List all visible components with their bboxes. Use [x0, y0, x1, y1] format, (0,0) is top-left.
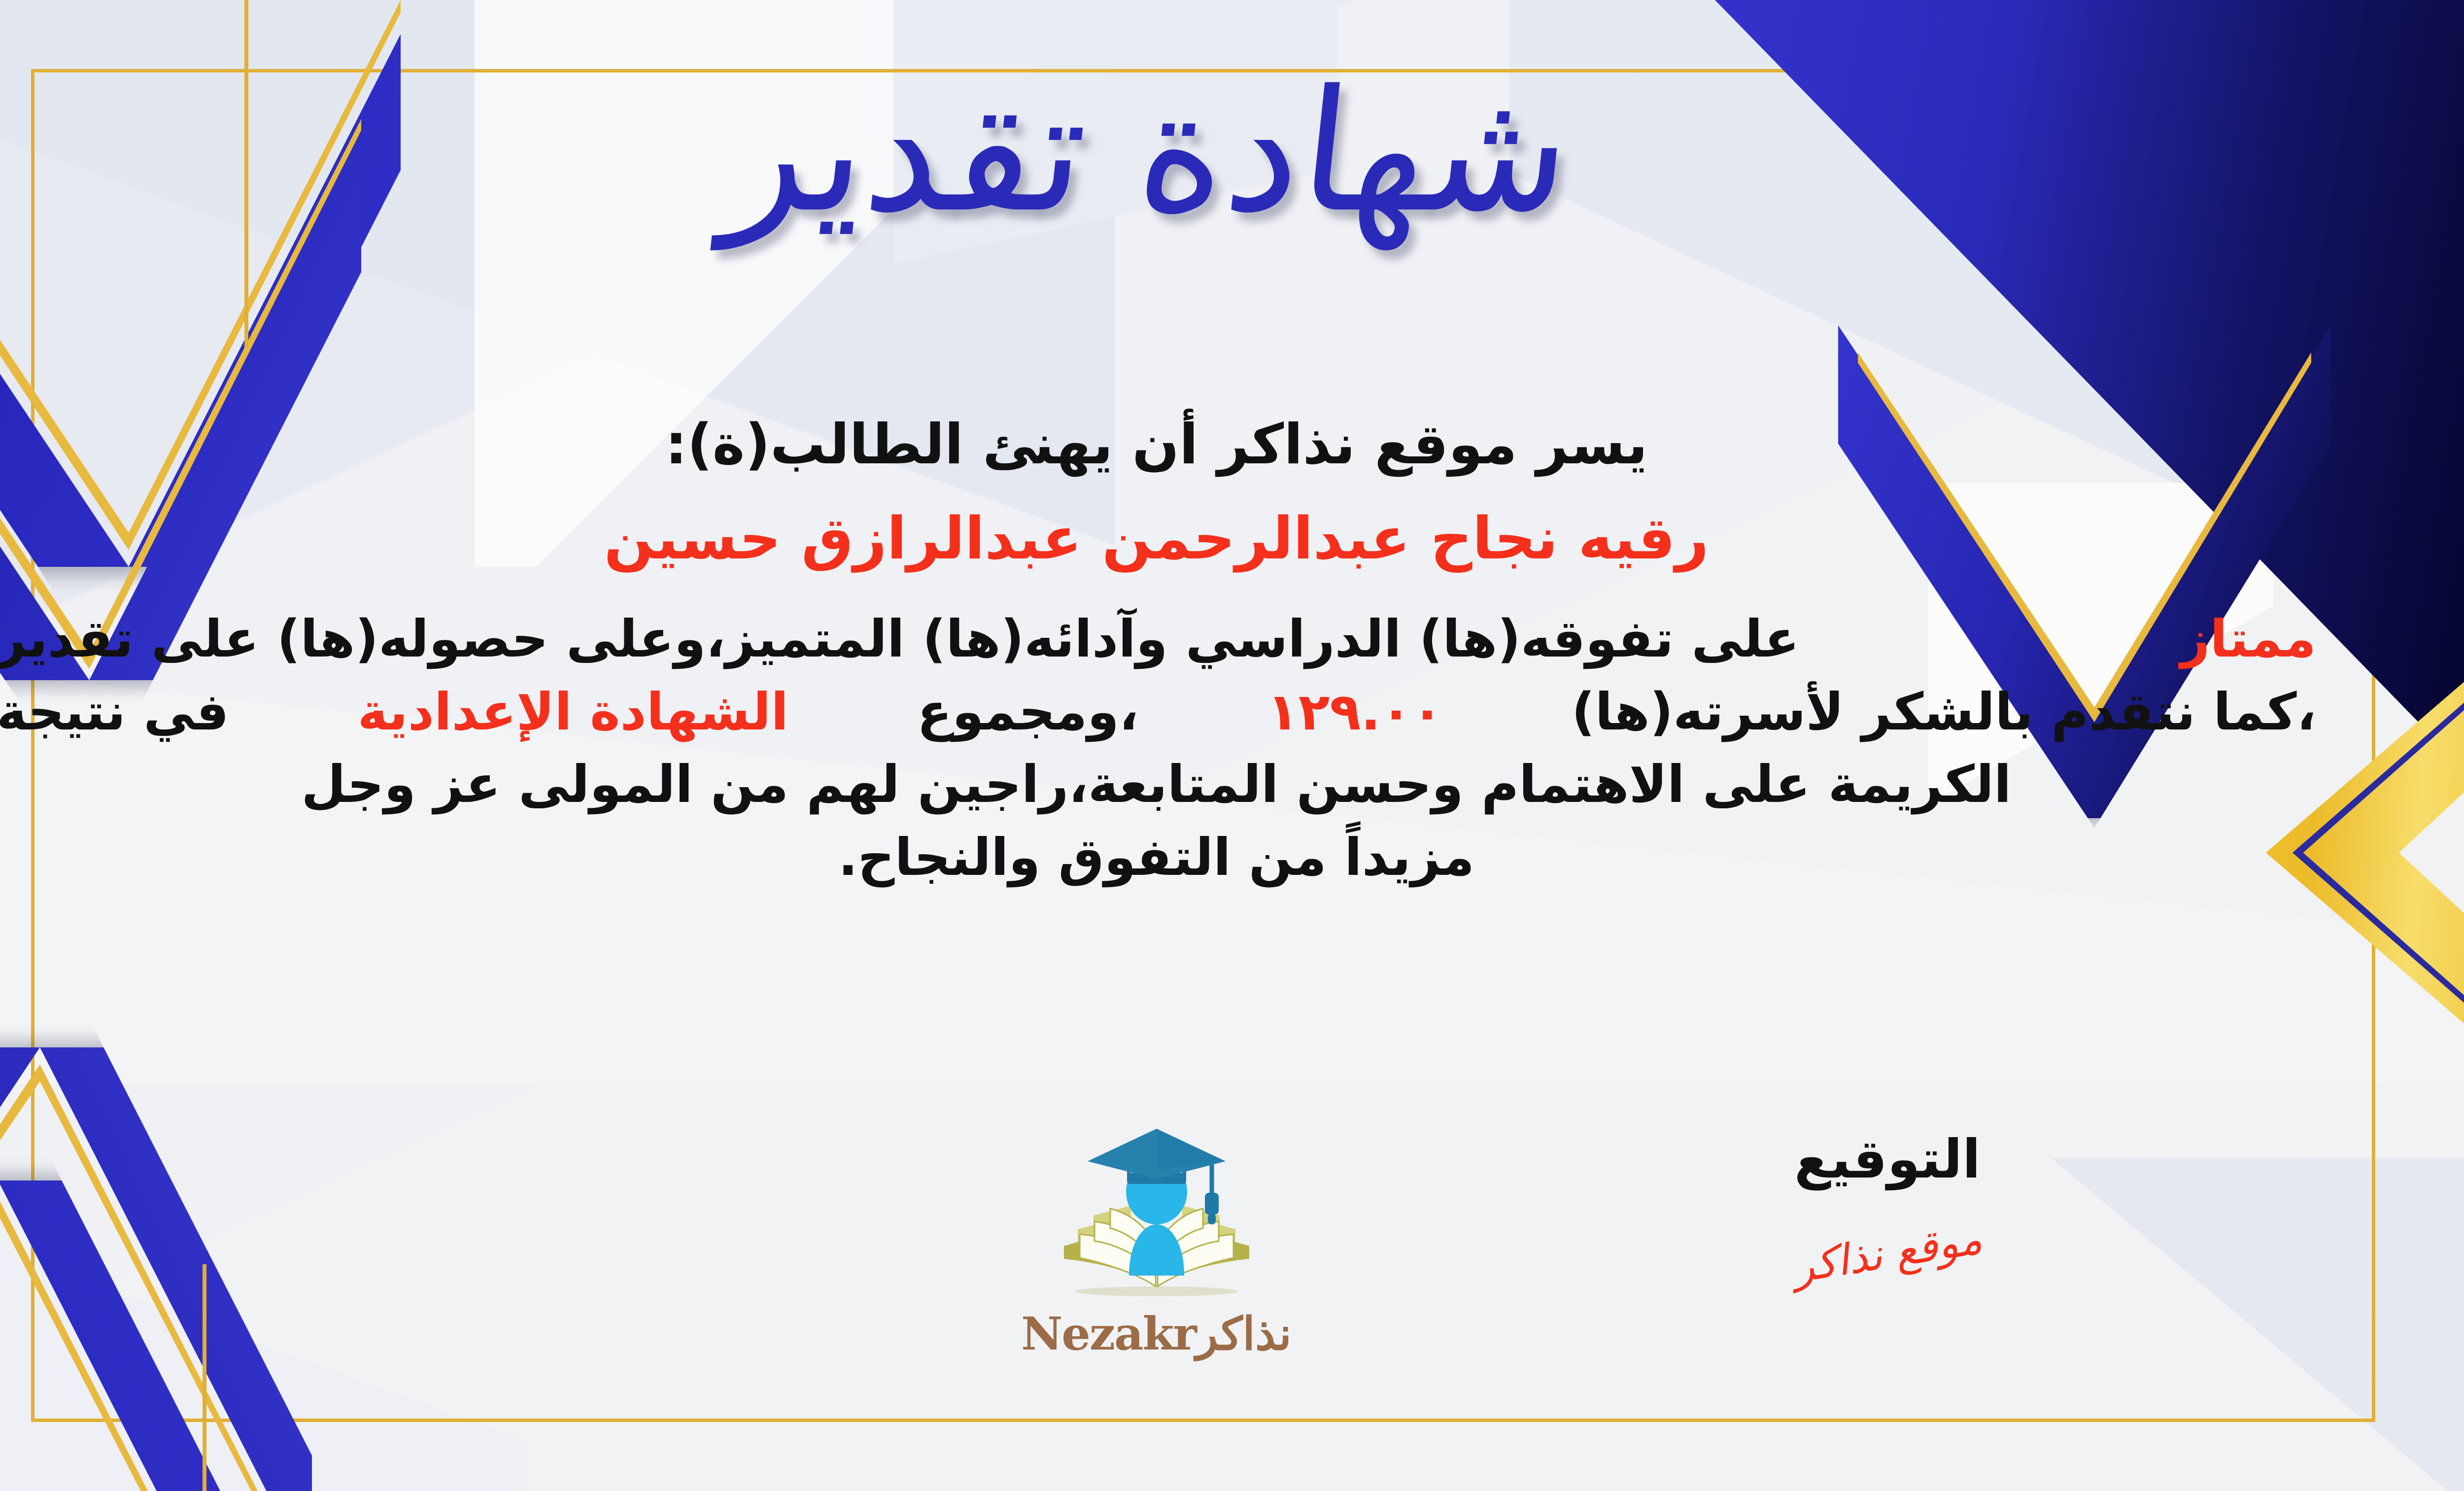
body-line-3: الكريمة على الاهتمام وحسن المتابعة،راجين…	[0, 748, 2316, 821]
exam-name: الشهادة الإعدادية	[357, 676, 788, 749]
graduation-book-logo-icon	[1028, 1119, 1285, 1316]
certificate-body: يسر موقع نذاكر أن يهنئ الطالب(ة): رقيه ن…	[0, 409, 2316, 894]
site-logo: نذاكرNezakr	[974, 1119, 1339, 1360]
body-line-1-text: على تفوقه(ها) الدراسي وآدائه(ها) المتميز…	[0, 603, 1799, 676]
logo-arabic: نذاكر	[1196, 1307, 1292, 1360]
body-line-4: مزيداً من التفوق والنجاح.	[0, 821, 2316, 894]
body-line-2-tail: ،كما نتقدم بالشكر لأسرته(ها)	[1572, 676, 2316, 749]
body-line-3-text: الكريمة على الاهتمام وحسن المتابعة،راجين…	[301, 748, 2011, 821]
intro-line: يسر موقع نذاكر أن يهنئ الطالب(ة):	[0, 409, 2316, 481]
total-score-value: ١٢٩.٠٠	[1267, 676, 1443, 749]
body-line-4-text: مزيداً من التفوق والنجاح.	[838, 821, 1474, 894]
body-paragraph: ممتاز على تفوقه(ها) الدراسي وآدائه(ها) ا…	[0, 603, 2316, 894]
certificate-title: شهادة تقدير	[0, 64, 2464, 240]
signature-label: التوقيع	[1735, 1129, 2040, 1190]
total-label: ،ومجموع	[917, 676, 1138, 749]
student-name: رقيه نجاح عبدالرحمن عبدالرازق حسين	[0, 501, 2316, 576]
logo-wordmark: نذاكرNezakr	[974, 1307, 1339, 1360]
signature-mark: موقع نذاكر	[1790, 1214, 1985, 1292]
body-line-2-head: في نتيجة	[0, 676, 229, 749]
body-line-2: ،كما نتقدم بالشكر لأسرته(ها) ١٢٩.٠٠ ،ومج…	[0, 676, 2316, 749]
certificate-canvas: شهادة تقدير يسر موقع نذاكر أن يهنئ الطال…	[0, 0, 2464, 1491]
body-line-1: ممتاز على تفوقه(ها) الدراسي وآدائه(ها) ا…	[0, 603, 2316, 676]
certificate-footer: التوقيع موقع نذاكر	[0, 1129, 2316, 1444]
grade-value: ممتاز	[2181, 603, 2317, 676]
logo-latin: Nezakr	[1021, 1307, 1196, 1360]
signature-block: التوقيع موقع نذاكر	[1735, 1129, 2040, 1278]
